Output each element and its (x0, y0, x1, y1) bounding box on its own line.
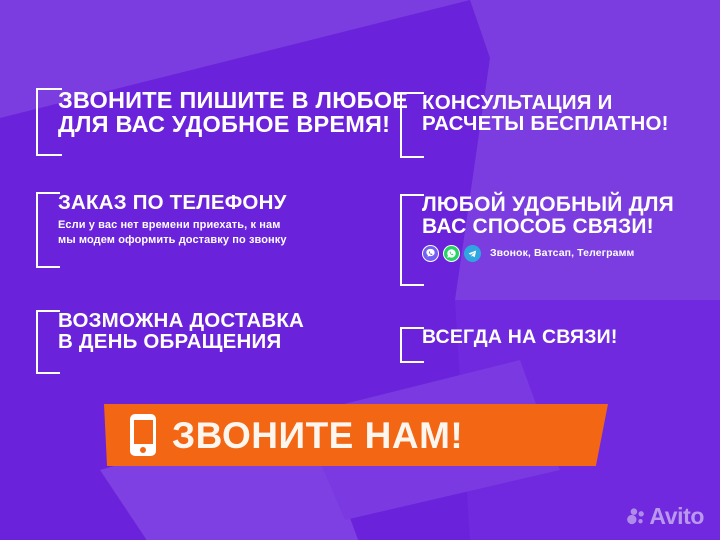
messenger-label: Звонок, Ватсап, Телеграмм (490, 247, 634, 259)
cta-label: ЗВОНИТЕ НАМ! (172, 417, 463, 454)
card-headline: КОНСУЛЬТАЦИЯ И РАСЧЕТЫ БЕСПЛАТНО! (422, 92, 669, 135)
card-headline: ЗАКАЗ ПО ТЕЛЕФОНУ (58, 192, 287, 213)
card-body: КОНСУЛЬТАЦИЯ И РАСЧЕТЫ БЕСПЛАТНО! (400, 92, 669, 135)
avito-dots-logo (626, 507, 646, 527)
card-headline: ЛЮБОЙ УДОБНЫЙ ДЛЯ ВАС СПОСОБ СВЯЗИ! (422, 194, 674, 238)
viber-icon (422, 245, 439, 262)
feature-card-consultation: КОНСУЛЬТАЦИЯ И РАСЧЕТЫ БЕСПЛАТНО! (400, 92, 669, 135)
feature-card-delivery: ВОЗМОЖНА ДОСТАВКА В ДЕНЬ ОБРАЩЕНИЯ (36, 310, 304, 353)
card-body: ЗАКАЗ ПО ТЕЛЕФОНУ Если у вас нет времени… (36, 192, 287, 248)
card-body: ВСЕГДА НА СВЯЗИ! (400, 327, 618, 347)
avito-wordmark: Avito (649, 505, 704, 528)
card-body: ВОЗМОЖНА ДОСТАВКА В ДЕНЬ ОБРАЩЕНИЯ (36, 310, 304, 353)
telegram-icon (464, 245, 481, 262)
feature-card-phone-order: ЗАКАЗ ПО ТЕЛЕФОНУ Если у вас нет времени… (36, 192, 287, 248)
card-headline: ЗВОНИТЕ ПИШИТЕ В ЛЮБОЕ ДЛЯ ВАС УДОБНОЕ В… (58, 88, 408, 137)
card-subline: Если у вас нет времени приехать, к нам м… (58, 218, 287, 247)
card-body: ЛЮБОЙ УДОБНЫЙ ДЛЯ ВАС СПОСОБ СВЯЗИ! (400, 194, 674, 262)
whatsapp-icon (443, 245, 460, 262)
feature-card-any-contact-method: ЛЮБОЙ УДОБНЫЙ ДЛЯ ВАС СПОСОБ СВЯЗИ! (400, 194, 674, 262)
promo-banner: ЗВОНИТЕ ПИШИТЕ В ЛЮБОЕ ДЛЯ ВАС УДОБНОЕ В… (0, 0, 720, 540)
feature-card-always-available: ВСЕГДА НА СВЯЗИ! (400, 327, 618, 347)
mobile-phone-icon (130, 414, 156, 456)
card-headline: ВОЗМОЖНА ДОСТАВКА В ДЕНЬ ОБРАЩЕНИЯ (58, 310, 304, 353)
messenger-icon-row: Звонок, Ватсап, Телеграмм (422, 245, 674, 262)
call-us-cta-button[interactable]: ЗВОНИТЕ НАМ! (104, 404, 608, 466)
cta-content: ЗВОНИТЕ НАМ! (104, 404, 608, 466)
feature-card-anytime: ЗВОНИТЕ ПИШИТЕ В ЛЮБОЕ ДЛЯ ВАС УДОБНОЕ В… (36, 88, 408, 137)
card-body: ЗВОНИТЕ ПИШИТЕ В ЛЮБОЕ ДЛЯ ВАС УДОБНОЕ В… (36, 88, 408, 137)
avito-watermark: Avito (626, 505, 704, 528)
card-headline: ВСЕГДА НА СВЯЗИ! (422, 327, 618, 347)
